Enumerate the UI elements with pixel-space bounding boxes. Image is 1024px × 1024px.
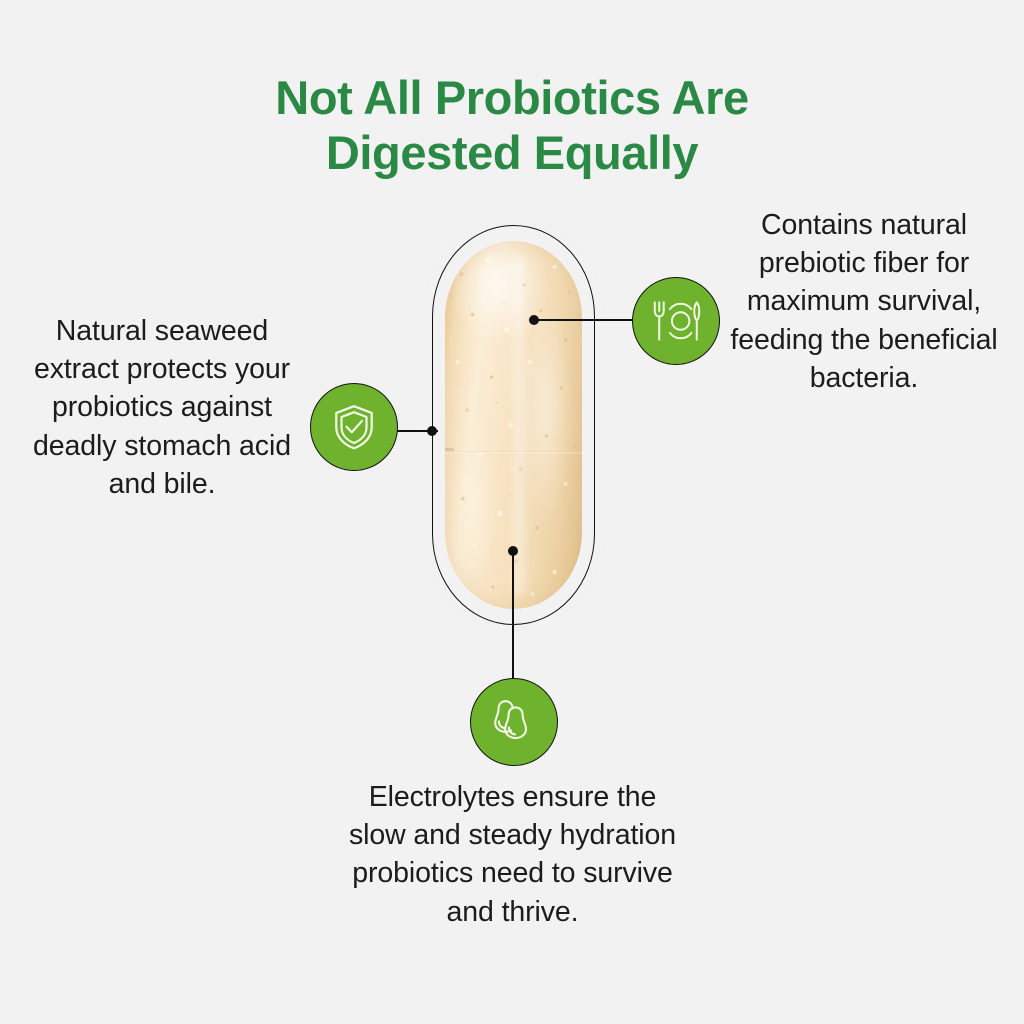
connector-line-bottom: [512, 551, 514, 691]
shield-check-icon: [329, 402, 379, 452]
capsule-cap-edge: [445, 448, 454, 451]
connector-dot-right: [529, 315, 539, 325]
plate-fork-knife-icon: [649, 297, 703, 345]
connector-dot-left: [427, 426, 437, 436]
badge-plate-fork-knife[interactable]: [632, 277, 720, 365]
badge-capsules[interactable]: [470, 678, 558, 766]
callout-text-left: Natural seaweed extract protects your pr…: [12, 312, 312, 503]
infographic-canvas: Not All Probiotics Are Digested Equally: [0, 0, 1024, 1024]
connector-dot-bottom: [508, 546, 518, 556]
capsules-icon: [488, 696, 540, 748]
callout-text-bottom: Electrolytes ensure the slow and steady …: [340, 778, 685, 931]
capsule-joint-line: [445, 451, 582, 454]
badge-shield-check[interactable]: [310, 383, 398, 471]
page-title-line-2: Digested Equally: [0, 126, 1024, 180]
page-title: Not All Probiotics Are Digested Equally: [0, 71, 1024, 179]
connector-line-right: [534, 319, 644, 321]
callout-text-right: Contains natural prebiotic fiber for max…: [714, 206, 1014, 397]
page-title-line-1: Not All Probiotics Are: [0, 71, 1024, 125]
capsule-highlight: [508, 256, 530, 595]
